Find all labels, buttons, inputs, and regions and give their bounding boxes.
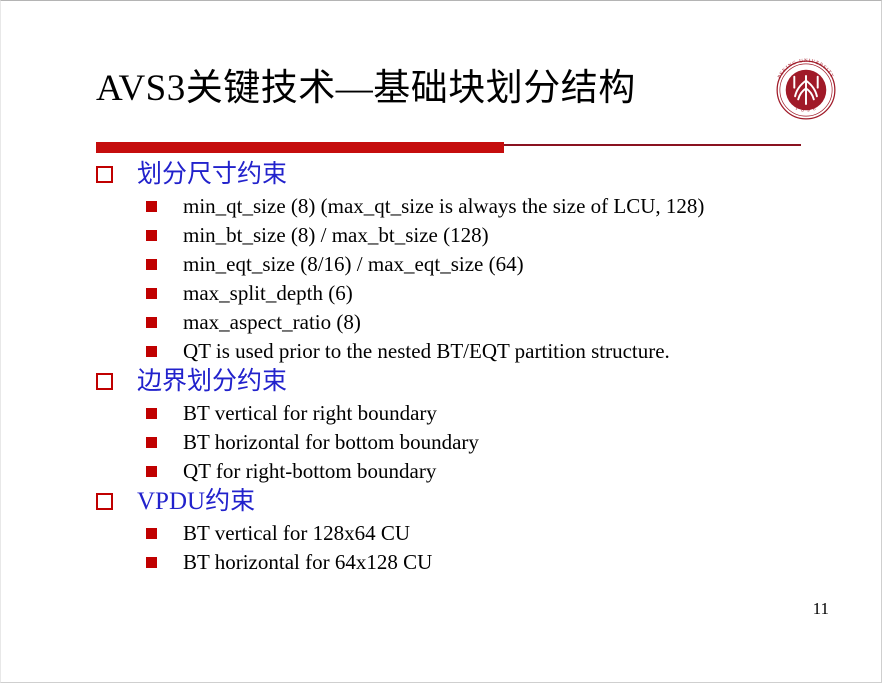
list-item-label: min_qt_size (8) (max_qt_size is always t… <box>183 192 704 220</box>
section-heading-row: 边界划分约束 <box>96 366 836 399</box>
section-heading-row: VPDU约束 <box>96 486 836 519</box>
page-title: AVS3关键技术—基础块划分结构 <box>96 63 756 115</box>
filled-square-bullet-icon <box>146 201 157 212</box>
section-heading: 边界划分约束 <box>137 366 287 397</box>
title-block: AVS3关键技术—基础块划分结构 <box>96 63 756 125</box>
filled-square-bullet-icon <box>146 437 157 448</box>
list-item: max_split_depth (6) <box>96 279 836 308</box>
filled-square-bullet-icon <box>146 346 157 357</box>
filled-square-bullet-icon <box>146 259 157 270</box>
list-item: min_eqt_size (8/16) / max_eqt_size (64) <box>96 250 836 279</box>
filled-square-bullet-icon <box>146 288 157 299</box>
list-item-label: QT for right-bottom boundary <box>183 457 436 485</box>
list-item-label: max_split_depth (6) <box>183 279 353 307</box>
list-item-label: BT vertical for 128x64 CU <box>183 519 410 547</box>
section-heading-row: 划分尺寸约束 <box>96 159 836 192</box>
hollow-square-bullet-icon <box>96 373 113 390</box>
list-item: max_aspect_ratio (8) <box>96 308 836 337</box>
hollow-square-bullet-icon <box>96 493 113 510</box>
peking-university-logo-icon: PEKING UNIVERSITY 1 8 9 8 <box>767 51 845 129</box>
list-item: QT is used prior to the nested BT/EQT pa… <box>96 337 836 366</box>
page-number: 11 <box>813 599 829 619</box>
section-heading: VPDU约束 <box>137 486 255 517</box>
hollow-square-bullet-icon <box>96 166 113 183</box>
list-item: min_qt_size (8) (max_qt_size is always t… <box>96 192 836 221</box>
filled-square-bullet-icon <box>146 557 157 568</box>
slide-canvas: AVS3关键技术—基础块划分结构 PEKING UNIVERSITY 1 8 9… <box>0 0 882 683</box>
filled-square-bullet-icon <box>146 230 157 241</box>
list-item-label: min_eqt_size (8/16) / max_eqt_size (64) <box>183 250 524 278</box>
list-item-label: BT vertical for right boundary <box>183 399 437 427</box>
list-item-label: min_bt_size (8) / max_bt_size (128) <box>183 221 489 249</box>
list-item: BT vertical for 128x64 CU <box>96 519 836 548</box>
filled-square-bullet-icon <box>146 317 157 328</box>
slide-body: 划分尺寸约束 min_qt_size (8) (max_qt_size is a… <box>96 159 836 577</box>
list-item: BT horizontal for 64x128 CU <box>96 548 836 577</box>
list-item-label: BT horizontal for bottom boundary <box>183 428 479 456</box>
filled-square-bullet-icon <box>146 466 157 477</box>
section-heading: 划分尺寸约束 <box>137 159 287 190</box>
list-item: QT for right-bottom boundary <box>96 457 836 486</box>
list-item: min_bt_size (8) / max_bt_size (128) <box>96 221 836 250</box>
title-rule-thick <box>96 142 504 153</box>
list-item-label: BT horizontal for 64x128 CU <box>183 548 432 576</box>
list-item: BT vertical for right boundary <box>96 399 836 428</box>
filled-square-bullet-icon <box>146 408 157 419</box>
list-item: BT horizontal for bottom boundary <box>96 428 836 457</box>
filled-square-bullet-icon <box>146 528 157 539</box>
list-item-label: max_aspect_ratio (8) <box>183 308 361 336</box>
list-item-label: QT is used prior to the nested BT/EQT pa… <box>183 337 670 365</box>
